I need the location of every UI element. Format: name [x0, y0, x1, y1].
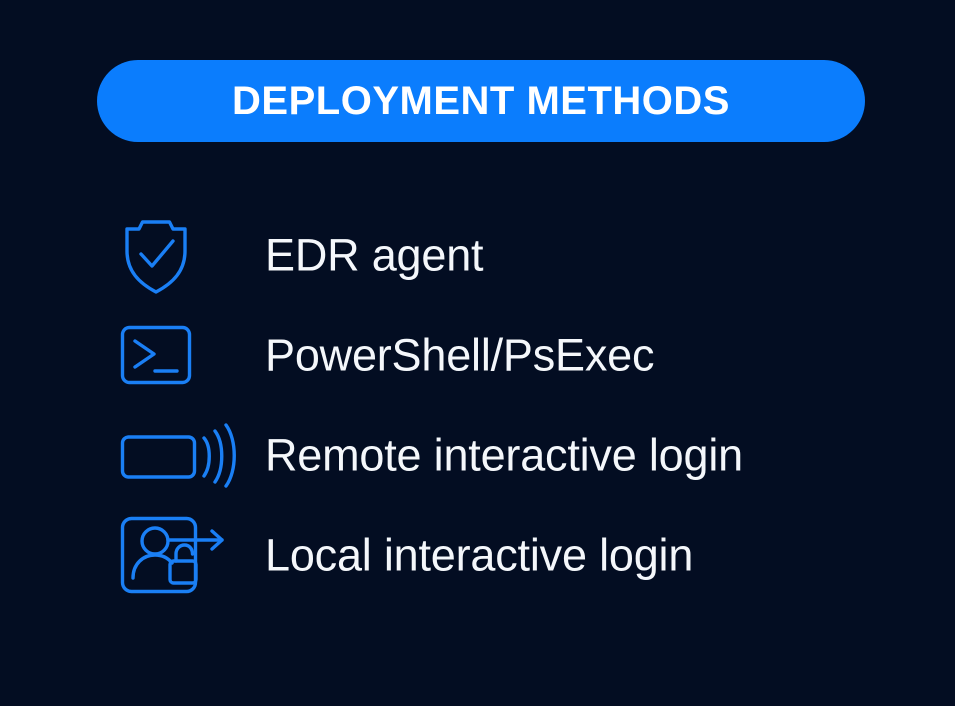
list-item: PowerShell/PsExec: [0, 305, 955, 405]
list-item-label: PowerShell/PsExec: [265, 330, 654, 380]
list-item: Local interactive login: [0, 505, 955, 605]
page-title: DEPLOYMENT METHODS: [232, 81, 730, 121]
list-item: Remote interactive login: [0, 405, 955, 505]
user-lock-arrow-icon: [120, 512, 240, 598]
list-item-label: Local interactive login: [265, 530, 693, 580]
list-item: EDR agent: [0, 205, 955, 305]
deployment-methods-infographic: DEPLOYMENT METHODS EDR agent Pow: [0, 0, 955, 706]
list-item-label: EDR agent: [265, 230, 483, 280]
list-item-label: Remote interactive login: [265, 430, 743, 480]
terminal-prompt-icon: [120, 312, 240, 398]
shield-check-icon: [120, 212, 240, 298]
remote-screen-signal-icon: [120, 412, 240, 498]
header-pill: DEPLOYMENT METHODS: [97, 60, 865, 142]
deployment-methods-list: EDR agent PowerShell/PsExec: [0, 205, 955, 605]
